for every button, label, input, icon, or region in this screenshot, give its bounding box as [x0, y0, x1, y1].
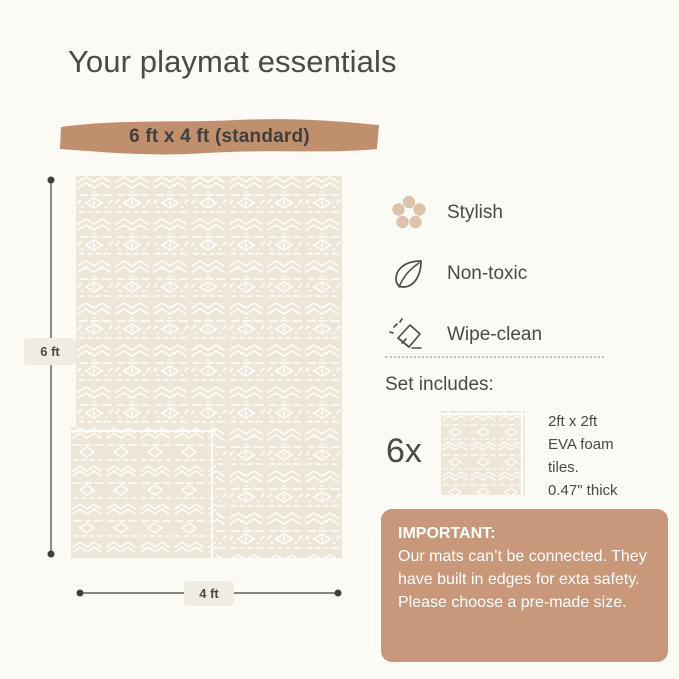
tile-thumbnail — [441, 411, 525, 495]
tile-quantity: 6x — [386, 432, 422, 471]
height-dimension-line — [44, 176, 58, 558]
tile-description: 2ft x 2ft EVA foam tiles. 0.47" thick — [548, 410, 678, 502]
flower-icon — [385, 194, 433, 232]
tile-description-line-3: tiles. — [548, 456, 678, 479]
size-banner: 6 ft x 4 ft (standard) — [57, 116, 382, 157]
important-notice: IMPORTANT: Our mats can’t be connected. … — [381, 509, 668, 662]
set-includes-heading: Set includes: — [385, 374, 494, 396]
feature-item-stylish: Stylish — [385, 182, 655, 243]
small-playmat — [71, 427, 216, 558]
feature-label-wipe-clean: Wipe-clean — [447, 324, 542, 346]
feature-item-non-toxic: Non-toxic — [385, 243, 655, 304]
leaf-icon — [385, 255, 433, 293]
size-banner-label: 6 ft x 4 ft (standard) — [57, 116, 382, 157]
wiping-hand-icon — [385, 316, 433, 354]
important-body: Our mats can’t be connected. They have b… — [398, 545, 651, 614]
feature-label-stylish: Stylish — [447, 202, 503, 224]
width-dimension-label: 4 ft — [184, 581, 234, 606]
feature-label-non-toxic: Non-toxic — [447, 263, 527, 285]
feature-list: Stylish Non-toxic — [385, 182, 655, 365]
height-dimension-label: 6 ft — [24, 338, 76, 365]
tile-description-line-1: 2ft x 2ft — [548, 410, 678, 433]
infographic-page: Your playmat essentials 6 ft x 4 ft (sta… — [0, 0, 679, 679]
page-title: Your playmat essentials — [68, 44, 397, 80]
tile-description-line-2: EVA foam — [548, 433, 678, 456]
section-divider — [385, 356, 604, 360]
important-title: IMPORTANT: — [398, 523, 651, 545]
tile-thumbnail-pattern — [441, 411, 525, 495]
tile-description-line-4: 0.47" thick — [548, 479, 678, 502]
small-playmat-pattern — [71, 427, 216, 558]
